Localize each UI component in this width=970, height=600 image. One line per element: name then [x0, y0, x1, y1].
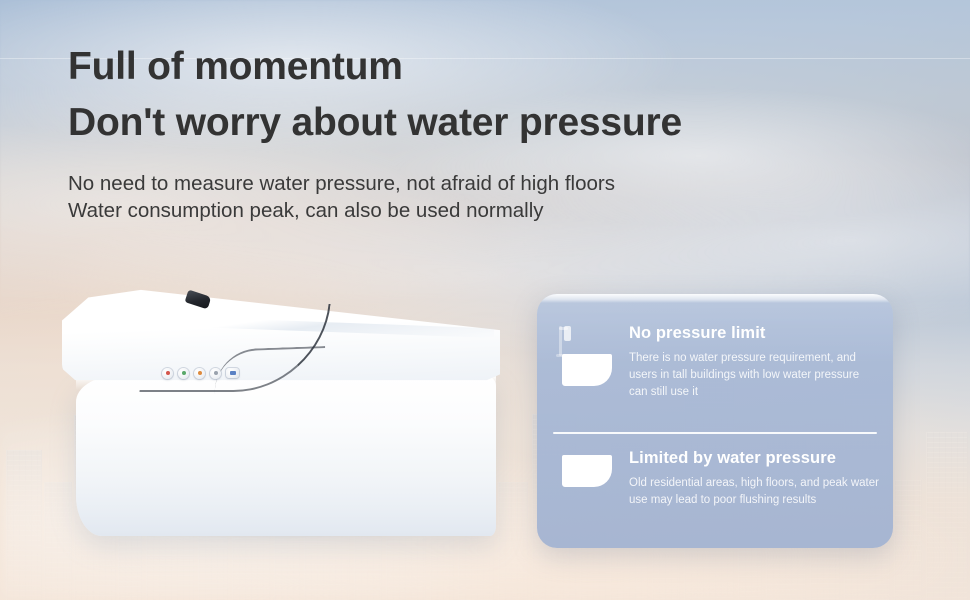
product-image-smart-toilet: [62, 286, 502, 536]
toilet-icon: [552, 449, 618, 515]
water-pressure-info-card: No pressure limit There is no water pres…: [537, 294, 893, 548]
card-row-limited-by-water-pressure: Limited by water pressure Old residentia…: [537, 449, 893, 544]
power-button-icon: [162, 368, 173, 379]
toilet-control-panel: [162, 364, 252, 382]
toilet-with-water-pipe-icon: [552, 324, 618, 390]
pipe-head: [564, 326, 571, 341]
promo-banner: Full of momentum Don't worry about water…: [0, 0, 970, 600]
card-row-text: Limited by water pressure Old residentia…: [629, 449, 879, 509]
card-row-title: No pressure limit: [629, 324, 879, 343]
card-divider: [553, 432, 877, 434]
toilet-bowl-icon: [562, 455, 612, 487]
card-row-description: Old residential areas, high floors, and …: [629, 475, 879, 509]
toilet-bowl: [76, 376, 496, 536]
card-row-no-pressure-limit: No pressure limit There is no water pres…: [537, 324, 893, 434]
card-row-title: Limited by water pressure: [629, 449, 879, 468]
page-title-line1: Full of momentum: [68, 45, 403, 89]
dry-button-icon: [194, 368, 205, 379]
page-subtitle-line2: Water consumption peak, can also be used…: [68, 199, 544, 223]
stop-button-icon: [210, 368, 221, 379]
wash-button-icon: [178, 368, 189, 379]
pipe-stem: [559, 326, 562, 356]
card-row-description: There is no water pressure requirement, …: [629, 350, 879, 401]
page-title-line2: Don't worry about water pressure: [68, 101, 682, 145]
flush-button-icon: [226, 368, 239, 378]
card-top-highlight: [537, 294, 893, 303]
toilet-bowl-icon: [562, 354, 612, 386]
card-row-text: No pressure limit There is no water pres…: [629, 324, 879, 401]
page-subtitle-line1: No need to measure water pressure, not a…: [68, 172, 615, 196]
